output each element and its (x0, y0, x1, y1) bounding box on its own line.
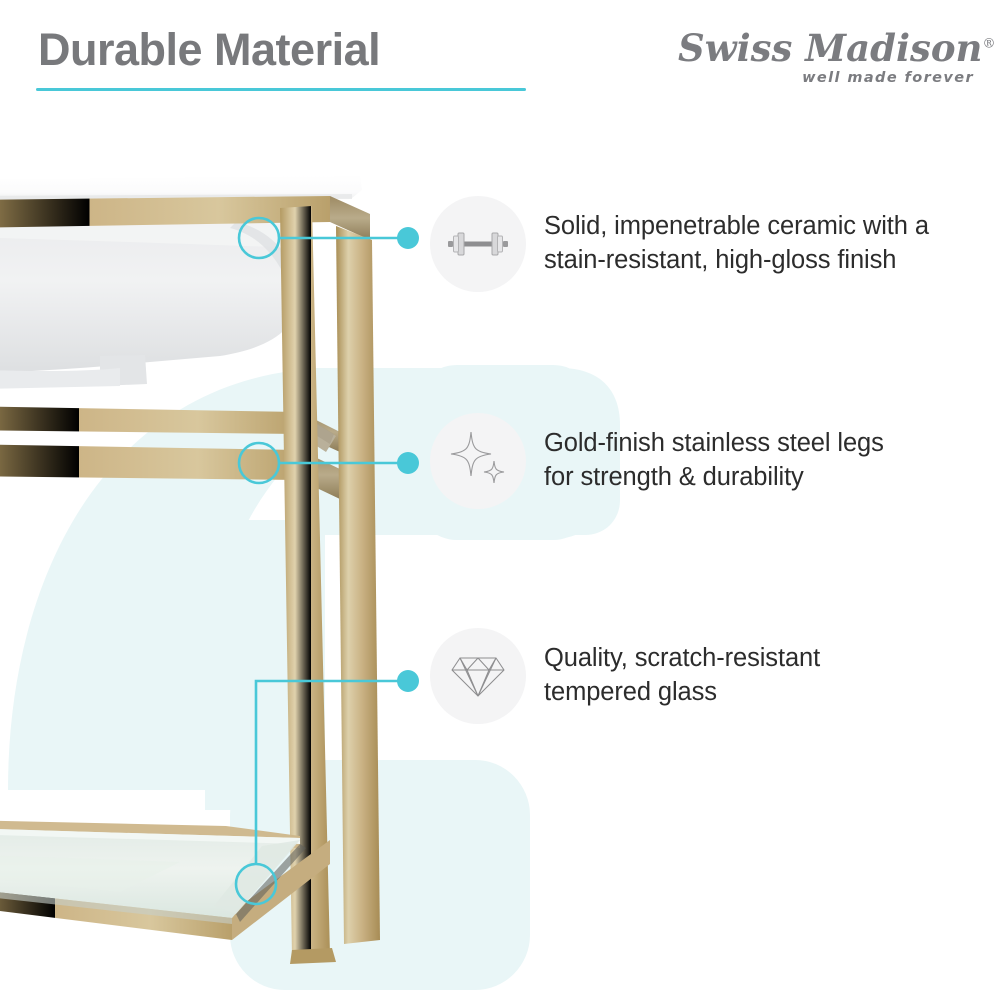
feature-item-legs: Gold-finish stainless steel legs for str… (430, 413, 990, 509)
feature-text-glass: Quality, scratch-resistant tempered glas… (544, 642, 820, 710)
brand-name-text: Swiss Madison (678, 26, 982, 70)
feature-list: Solid, impenetrable ceramic with a stain… (0, 0, 1000, 1000)
feature-item-ceramic: Solid, impenetrable ceramic with a stain… (430, 196, 990, 292)
diamond-icon (430, 628, 526, 724)
brand-name: Swiss Madison® (678, 26, 978, 70)
registered-trademark-icon: ® (982, 37, 995, 52)
dumbbell-icon (430, 196, 526, 292)
title-underline (36, 88, 526, 91)
brand-tagline: well made forever (802, 70, 974, 86)
page-title: Durable Material (38, 24, 380, 76)
infographic-canvas: Durable Material Swiss Madison® well mad… (0, 0, 1000, 1000)
sparkle-icon (430, 413, 526, 509)
feature-text-ceramic: Solid, impenetrable ceramic with a stain… (544, 210, 929, 278)
brand-logo: Swiss Madison® well made forever (678, 26, 978, 98)
feature-text-legs: Gold-finish stainless steel legs for str… (544, 427, 884, 495)
feature-item-glass: Quality, scratch-resistant tempered glas… (430, 628, 990, 724)
